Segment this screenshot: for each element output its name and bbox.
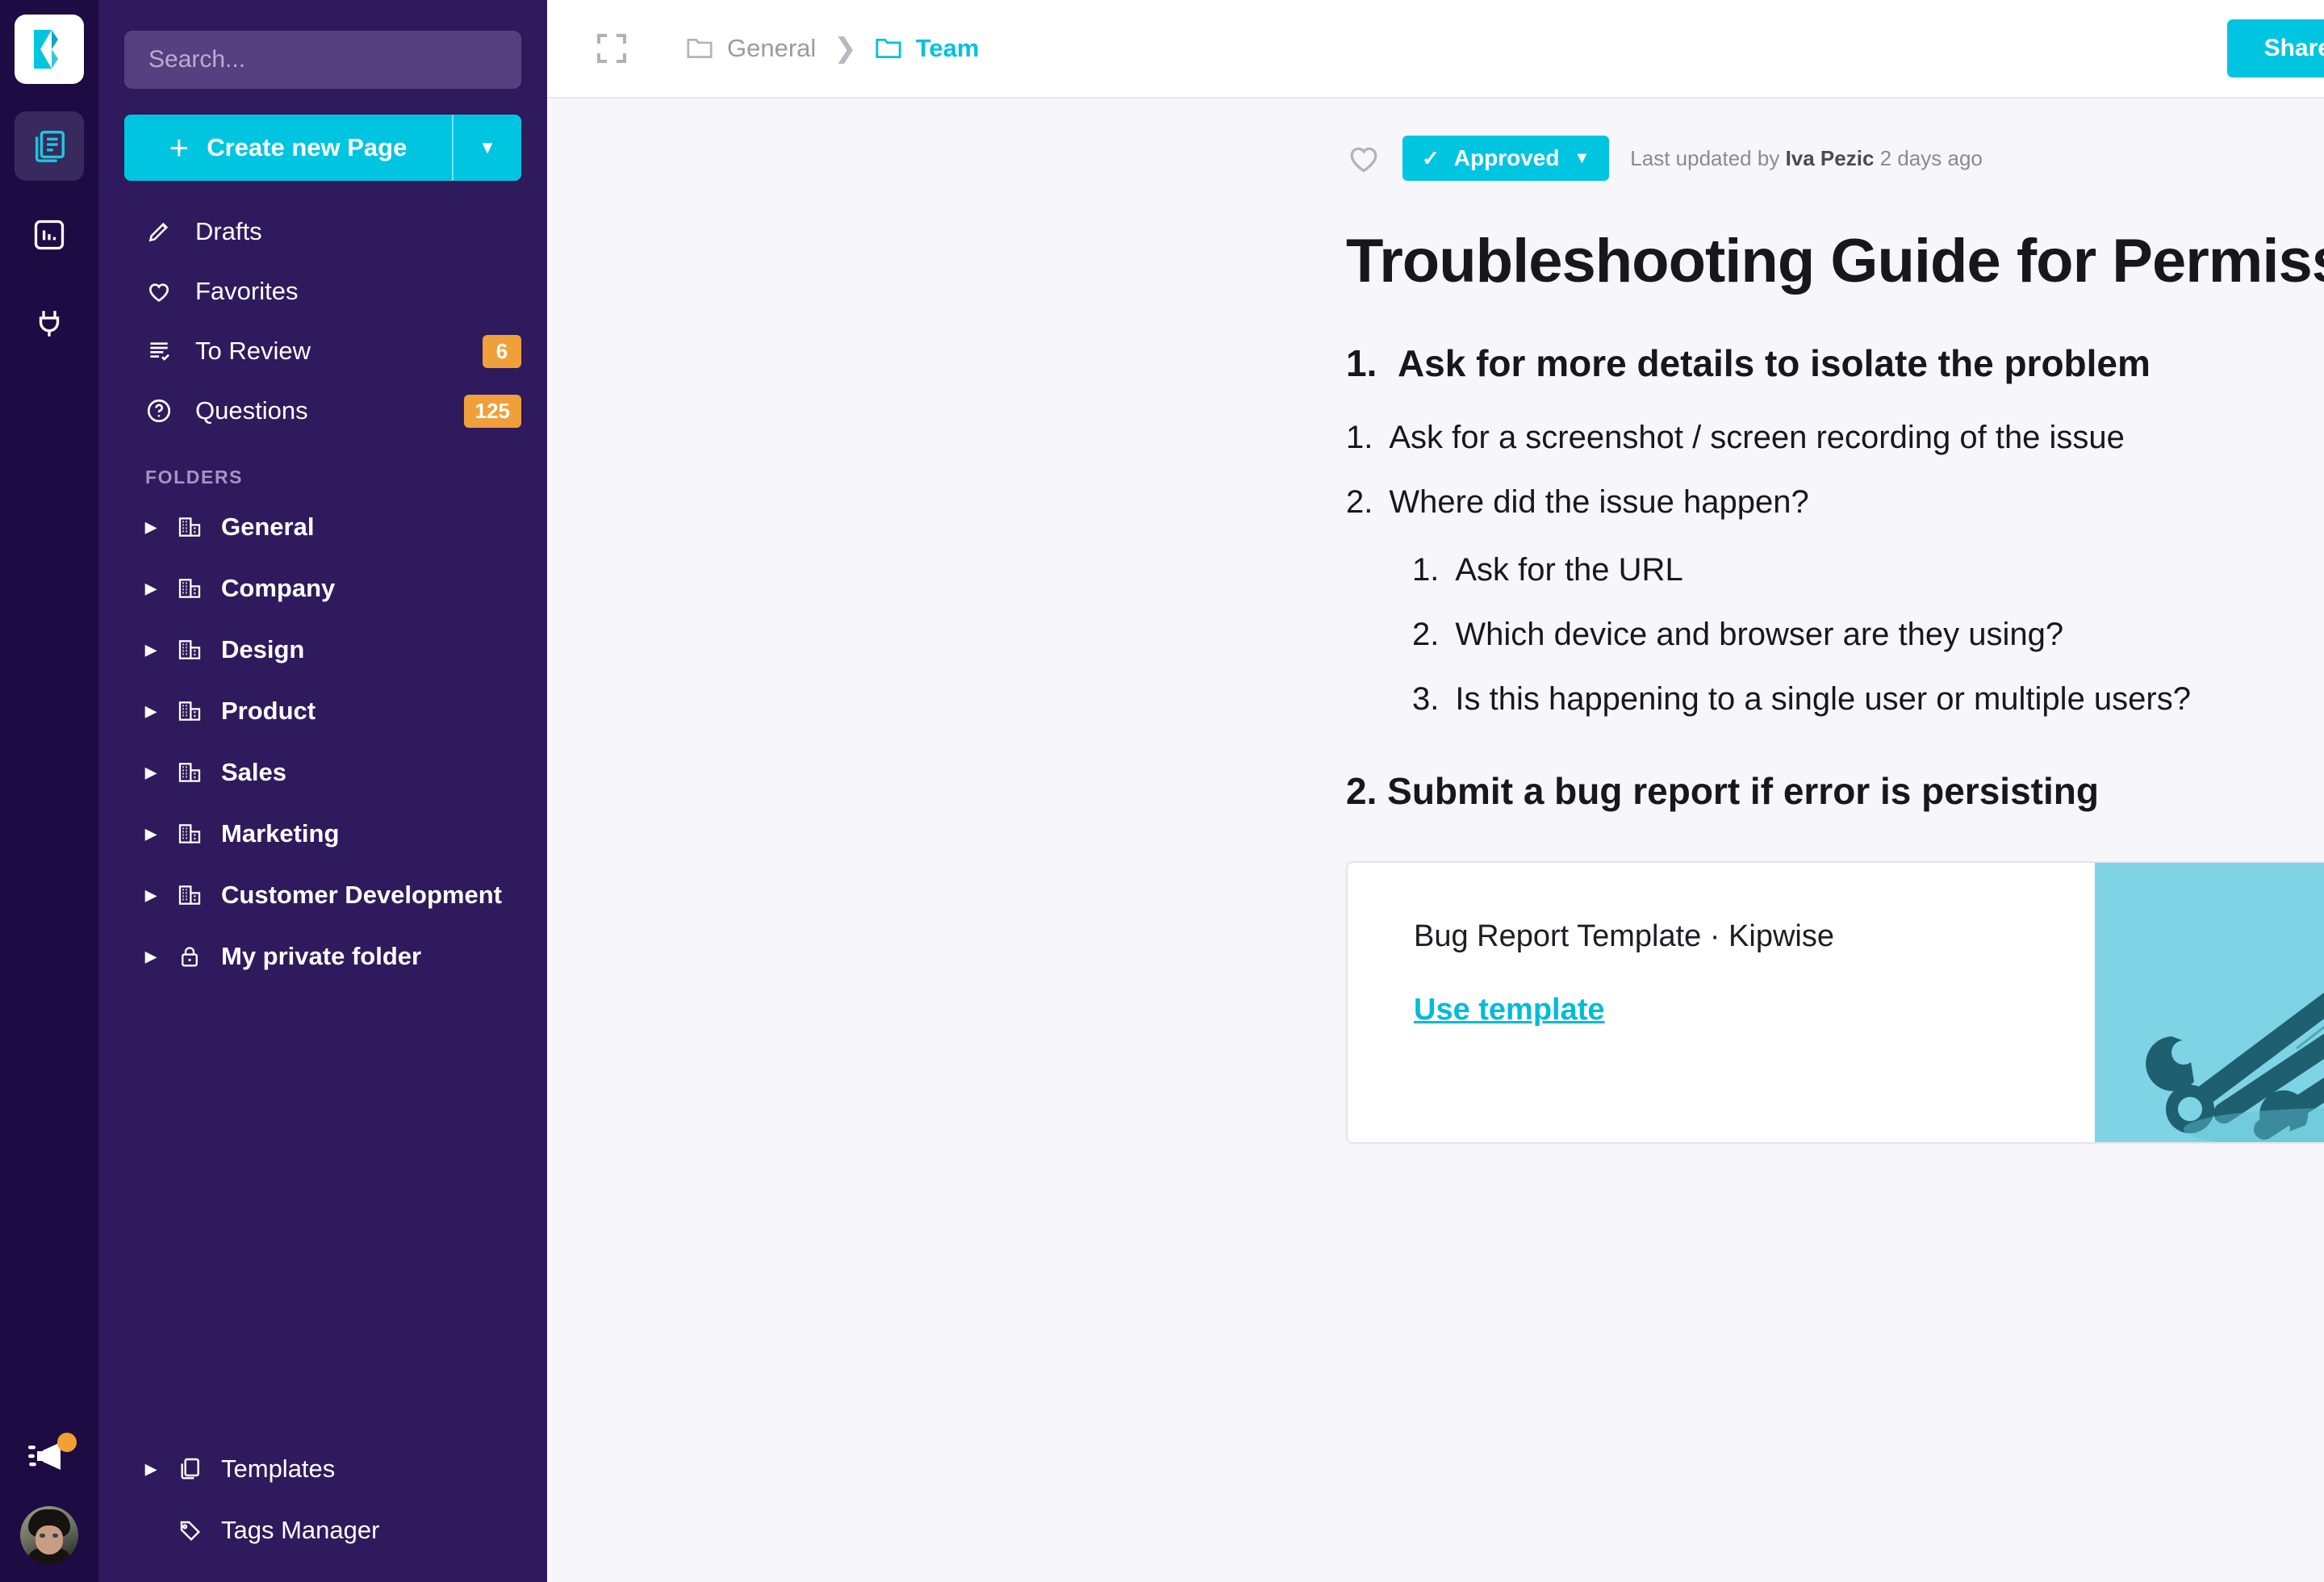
- heading-2: 2. Submit a bug report if error is persi…: [1346, 769, 2324, 813]
- folder-grid-icon: [176, 820, 203, 847]
- chevron-right-icon[interactable]: ▶: [145, 1461, 158, 1478]
- status-badge: 6: [483, 335, 521, 368]
- integrations-plug-icon: [32, 307, 66, 341]
- heading-1: 1. Ask for more details to isolate the p…: [1346, 341, 2324, 385]
- sidebar-item-tags-manager[interactable]: Tags Manager: [98, 1500, 547, 1561]
- sidebar-item-templates[interactable]: ▶ Templates: [98, 1438, 547, 1500]
- folder-label: Sales: [221, 758, 286, 787]
- list-item-text: Which device and browser are they using?: [1455, 609, 2063, 659]
- pencil-icon: [145, 218, 173, 245]
- sidebar-item-label: Tags Manager: [221, 1516, 379, 1545]
- sidebar-folder-my-private-folder[interactable]: ▶ My private folder: [98, 926, 547, 987]
- documents-icon: [31, 128, 68, 165]
- kipwise-logo-icon: [31, 27, 68, 72]
- sidebar-folder-customer-development[interactable]: ▶ Customer Development: [98, 864, 547, 926]
- main-area: General ❯ Team Share •••: [547, 0, 2324, 1582]
- list-item-text: Ask for a screenshot / screen recording …: [1389, 412, 2125, 462]
- rail-item-integrations[interactable]: [15, 289, 84, 358]
- list-item: 2. Where did the issue happen? 1. Ask fo…: [1346, 477, 2324, 724]
- topbar-actions: Share •••: [2227, 19, 2324, 77]
- sidebar-item-questions[interactable]: Questions 125: [98, 381, 547, 441]
- list-item-number: 2.: [1346, 477, 1373, 527]
- folder-icon: [686, 36, 713, 61]
- analytics-icon: [31, 217, 67, 253]
- list-item-text: Is this happening to a single user or mu…: [1455, 674, 2191, 724]
- list-item-number: 3.: [1412, 674, 1439, 724]
- document-status-row: ✓ Approved ▼ Last updated by Iva Pezic 2…: [1346, 136, 2324, 181]
- lock-icon: [176, 943, 203, 970]
- list-item: 1. Ask for the URL: [1412, 545, 2324, 595]
- folder-icon: [875, 36, 902, 61]
- chevron-right-icon[interactable]: ▶: [145, 887, 158, 904]
- folder-label: Customer Development: [221, 881, 502, 910]
- create-new-page-dropdown-button[interactable]: ▼: [452, 115, 521, 181]
- app-root: Search... + Create new Page ▼ Drafts: [0, 0, 2324, 1582]
- chevron-down-icon: ▼: [479, 137, 496, 158]
- chevron-right-icon[interactable]: ▶: [145, 642, 158, 659]
- rail-bottom-group: [0, 1438, 98, 1564]
- last-updated-text: Last updated by Iva Pezic 2 days ago: [1630, 146, 1983, 171]
- rail-item-analytics[interactable]: [15, 200, 84, 270]
- sidebar-nav: Drafts Favorites To Review 6: [98, 202, 547, 441]
- folder-label: Marketing: [221, 819, 339, 848]
- folder-label: Design: [221, 635, 304, 664]
- chevron-right-icon[interactable]: ▶: [145, 580, 158, 597]
- sidebar-item-to-review[interactable]: To Review 6: [98, 321, 547, 381]
- review-list-icon: [145, 337, 173, 365]
- folder-label: Company: [221, 574, 335, 603]
- question-circle-icon: [145, 397, 173, 425]
- sidebar-item-favorites[interactable]: Favorites: [98, 262, 547, 321]
- template-card-text: Bug Report Template · Kipwise Use templa…: [1348, 863, 2095, 1142]
- last-updated-author: Iva Pezic: [1786, 146, 1875, 170]
- chevron-right-icon[interactable]: ▶: [145, 519, 158, 536]
- chevron-down-icon: ▼: [1574, 149, 1590, 168]
- sidebar-item-label: Favorites: [195, 277, 521, 306]
- breadcrumb-separator: ❯: [834, 32, 857, 65]
- sidebar-item-label: To Review: [195, 337, 460, 366]
- sidebar-item-label: Questions: [195, 396, 441, 425]
- chevron-right-icon[interactable]: ▶: [145, 703, 158, 720]
- sidebar-folder-company[interactable]: ▶ Company: [98, 558, 547, 619]
- folder-label: My private folder: [221, 942, 421, 971]
- copy-icon: [176, 1455, 203, 1483]
- topbar: General ❯ Team Share •••: [547, 0, 2324, 98]
- search-input[interactable]: Search...: [124, 31, 521, 89]
- folder-grid-icon: [176, 881, 203, 909]
- announcement-unread-dot: [57, 1433, 77, 1452]
- list-item-number: 2.: [1412, 609, 1439, 659]
- list-item-number: 1.: [1412, 545, 1439, 595]
- share-button[interactable]: Share: [2227, 19, 2324, 77]
- list-item: 3. Is this happening to a single user or…: [1412, 674, 2324, 724]
- sidebar-folder-sales[interactable]: ▶ Sales: [98, 742, 547, 803]
- status-badge: 125: [464, 395, 521, 428]
- document-content: ✓ Approved ▼ Last updated by Iva Pezic 2…: [547, 98, 2324, 1582]
- sidebar-bottom-nav: ▶ Templates Tags Manager: [98, 1438, 547, 1561]
- list-item: 2. Which device and browser are they usi…: [1412, 609, 2324, 659]
- breadcrumb-label: Team: [916, 34, 980, 63]
- document-inner: ✓ Approved ▼ Last updated by Iva Pezic 2…: [547, 136, 2324, 1144]
- sidebar-item-label: Drafts: [195, 217, 521, 246]
- folder-grid-icon: [176, 636, 203, 663]
- template-card[interactable]: Bug Report Template · Kipwise Use templa…: [1346, 861, 2324, 1144]
- approval-status-dropdown[interactable]: ✓ Approved ▼: [1402, 136, 1609, 181]
- breadcrumb-label: General: [727, 34, 816, 63]
- use-template-link[interactable]: Use template: [1414, 993, 1605, 1027]
- folders-heading: FOLDERS: [145, 467, 547, 488]
- avatar[interactable]: [20, 1506, 78, 1564]
- sidebar-folder-design[interactable]: ▶ Design: [98, 619, 547, 680]
- ordered-list-level-2: 1. Ask for the URL 2. Which device and b…: [1412, 545, 2324, 724]
- document-body: ✓ Approved ▼ Last updated by Iva Pezic 2…: [547, 136, 2324, 1144]
- breadcrumb: General ❯ Team: [686, 32, 979, 65]
- wrenches-illustration: [2095, 863, 2324, 1142]
- approval-label: Approved: [1454, 145, 1560, 171]
- breadcrumb-item-general[interactable]: General: [686, 34, 816, 63]
- kipwise-logo[interactable]: [15, 15, 84, 84]
- folder-grid-icon: [176, 575, 203, 602]
- heading-1-number: 1.: [1346, 342, 1377, 384]
- sidebar-item-drafts[interactable]: Drafts: [98, 202, 547, 262]
- expand-fullscreen-icon[interactable]: [592, 29, 631, 68]
- rail-item-documents[interactable]: [15, 111, 84, 181]
- check-icon: ✓: [1422, 146, 1440, 171]
- breadcrumb-item-team[interactable]: Team: [875, 34, 980, 63]
- chevron-right-icon[interactable]: ▶: [145, 826, 158, 843]
- ordered-list-level-1: 1. Ask for a screenshot / screen recordi…: [1346, 412, 2324, 724]
- template-card-title: Bug Report Template · Kipwise: [1414, 919, 2095, 954]
- folder-grid-icon: [176, 513, 203, 541]
- heading-2-number: 2.: [1346, 770, 1377, 812]
- wrenches-tools-image: [2095, 863, 2324, 1142]
- heading-2-text: Submit a bug report if error is persisti…: [1387, 770, 2099, 812]
- list-item-text: Where did the issue happen?: [1389, 477, 1808, 527]
- sidebar-folder-product[interactable]: ▶ Product: [98, 680, 547, 742]
- icon-rail: [0, 0, 98, 1582]
- plus-icon: +: [169, 131, 190, 165]
- folders-list: ▶ General ▶ Company: [98, 496, 547, 987]
- folder-grid-icon: [176, 759, 203, 786]
- last-updated-prefix: Last updated by: [1630, 146, 1779, 170]
- folder-label: Product: [221, 697, 316, 726]
- list-item-text: Ask for the URL: [1455, 545, 1682, 595]
- heart-outline-icon[interactable]: [1346, 140, 1381, 176]
- search-placeholder: Search...: [148, 46, 245, 73]
- create-new-page-group: + Create new Page ▼: [124, 115, 521, 181]
- folder-label: General: [221, 513, 314, 542]
- tag-icon: [176, 1517, 203, 1544]
- list-item-number: 1.: [1346, 412, 1373, 462]
- chevron-right-icon[interactable]: ▶: [145, 948, 158, 965]
- sidebar-folder-marketing[interactable]: ▶ Marketing: [98, 803, 547, 864]
- create-new-page-button[interactable]: + Create new Page: [124, 115, 452, 181]
- heart-icon: [145, 278, 173, 305]
- sidebar-item-label: Templates: [221, 1454, 335, 1484]
- sidebar-folder-general[interactable]: ▶ General: [98, 496, 547, 558]
- last-updated-suffix: 2 days ago: [1880, 146, 1983, 170]
- chevron-right-icon[interactable]: ▶: [145, 764, 158, 781]
- list-item: 1. Ask for a screenshot / screen recordi…: [1346, 412, 2324, 462]
- page-title: Troubleshooting Guide for Permissions: [1346, 226, 2324, 296]
- announcement-button[interactable]: [28, 1438, 70, 1479]
- folder-grid-icon: [176, 697, 203, 725]
- create-new-page-label: Create new Page: [207, 133, 407, 162]
- heading-1-text: Ask for more details to isolate the prob…: [1398, 342, 2151, 384]
- sidebar: Search... + Create new Page ▼ Drafts: [98, 0, 547, 1582]
